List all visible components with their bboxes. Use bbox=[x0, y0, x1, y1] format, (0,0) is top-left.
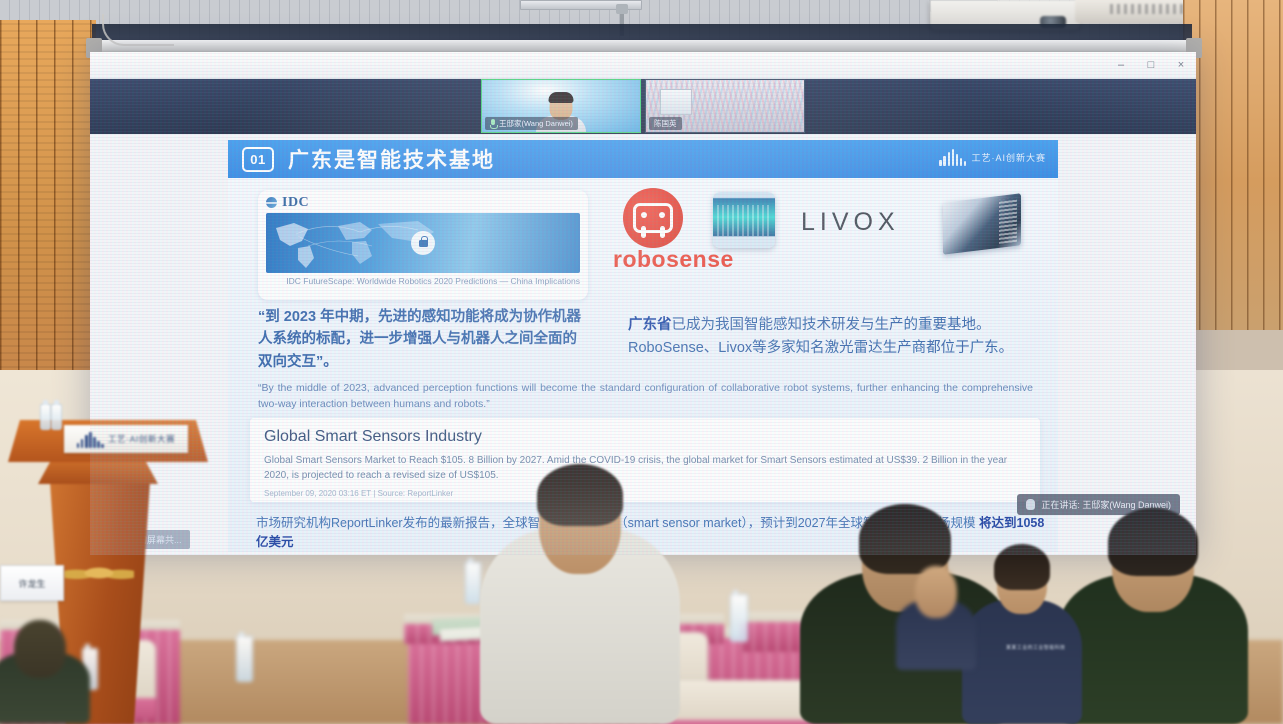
participant-name: 陈国英 bbox=[654, 118, 677, 129]
guangdong-highlight: 广东省 bbox=[628, 317, 672, 333]
vendor-logo-row: robosense LIVOX bbox=[613, 184, 1033, 294]
water-bottle bbox=[730, 594, 748, 642]
meeting-window-titlebar: – □ × bbox=[90, 52, 1196, 79]
podium-brand-text: 工艺·AI创新大赛 bbox=[108, 433, 175, 445]
lidar-device-icon bbox=[713, 192, 775, 248]
remote-window-panel bbox=[660, 89, 692, 115]
uniform-jacket bbox=[962, 600, 1082, 724]
idc-report-card: IDC bbox=[258, 190, 588, 300]
guangdong-note-chinese: 广东省已成为我国智能感知技术研发与生产的重要基地。RoboSense、Livox… bbox=[628, 314, 1028, 360]
delegate-name-card: 许龙生 bbox=[0, 565, 64, 601]
close-button[interactable]: × bbox=[1166, 52, 1196, 78]
audience-person-head bbox=[14, 620, 66, 678]
screenshot-root: – □ × 王邸家(Wang Danwei) bbox=[0, 0, 1283, 724]
audience-person-hair bbox=[537, 464, 623, 526]
slide-brand-text: 工艺·AI创新大赛 bbox=[971, 151, 1046, 164]
audience-person-head bbox=[915, 566, 957, 618]
water-bottle bbox=[236, 636, 253, 682]
idc-caption: IDC FutureScape: Worldwide Robotics 2020… bbox=[266, 276, 580, 287]
maximize-button[interactable]: □ bbox=[1136, 52, 1166, 78]
slide-header: 01 广东是智能技术基地 工艺·AI创新大赛 bbox=[228, 140, 1058, 178]
participant-hair bbox=[549, 92, 574, 103]
mic-icon bbox=[490, 119, 496, 128]
minimize-button[interactable]: – bbox=[1106, 52, 1136, 78]
wood-slat-wall-left bbox=[0, 20, 96, 375]
video-tile-speaker[interactable]: 王邸家(Wang Danwei) bbox=[481, 79, 641, 133]
audience-person-hair bbox=[994, 544, 1050, 590]
quote-english: “By the middle of 2023, advanced percept… bbox=[258, 380, 1033, 413]
audience-person bbox=[0, 614, 90, 724]
participant-name-badge: 陈国英 bbox=[649, 117, 682, 130]
audience-person bbox=[896, 560, 976, 670]
water-bottle bbox=[40, 404, 51, 430]
projector-vent-grille bbox=[1110, 4, 1190, 14]
water-bottle bbox=[51, 404, 62, 430]
participant-name-badge: 王邸家(Wang Danwei) bbox=[485, 117, 578, 130]
quote-chinese: “到 2023 年中期，先进的感知功能将成为协作机器人系统的标配，进一步增强人与… bbox=[258, 306, 588, 373]
participant-name: 王邸家(Wang Danwei) bbox=[499, 118, 573, 129]
livox-wordmark: LIVOX bbox=[801, 208, 900, 237]
idc-logo: IDC bbox=[266, 195, 580, 210]
audience-person bbox=[480, 440, 680, 724]
video-tile-secondary[interactable]: 陈国英 bbox=[645, 79, 805, 133]
roller-cable bbox=[102, 14, 174, 46]
participant-video-strip: 王邸家(Wang Danwei) 陈国英 bbox=[90, 78, 1196, 134]
audience-person bbox=[1058, 500, 1248, 724]
robot-face-icon bbox=[623, 188, 683, 248]
waveform-bars-icon bbox=[77, 431, 104, 448]
lock-icon bbox=[411, 231, 435, 255]
lidar-box-device-icon bbox=[943, 193, 1021, 255]
gold-crest-emblem-icon bbox=[64, 560, 134, 586]
podium-brand-plate: 工艺·AI创新大赛 bbox=[64, 425, 188, 453]
idc-wordmark: IDC bbox=[282, 195, 309, 211]
slide-title: 广东是智能技术基地 bbox=[288, 144, 495, 174]
waveform-bars-icon bbox=[939, 149, 966, 166]
water-bottle bbox=[465, 562, 481, 604]
podium-neck bbox=[38, 462, 158, 484]
audience-person-uniform: 某某工业的工业智能科技 bbox=[962, 540, 1082, 724]
mic-icon bbox=[1026, 499, 1035, 510]
slide-number-badge: 01 bbox=[242, 147, 274, 172]
guangdong-note-text: 已成为我国智能感知技术研发与生产的重要基地。RoboSense、Livox等多家… bbox=[628, 317, 1013, 356]
idc-cover-image bbox=[266, 213, 580, 273]
uniform-text: 某某工业的工业智能科技 bbox=[1006, 644, 1065, 651]
globe-icon bbox=[266, 197, 277, 208]
robosense-wordmark: robosense bbox=[613, 246, 734, 273]
audience-person-hair bbox=[1108, 508, 1198, 576]
slide-brand-logo: 工艺·AI创新大赛 bbox=[939, 149, 1046, 166]
